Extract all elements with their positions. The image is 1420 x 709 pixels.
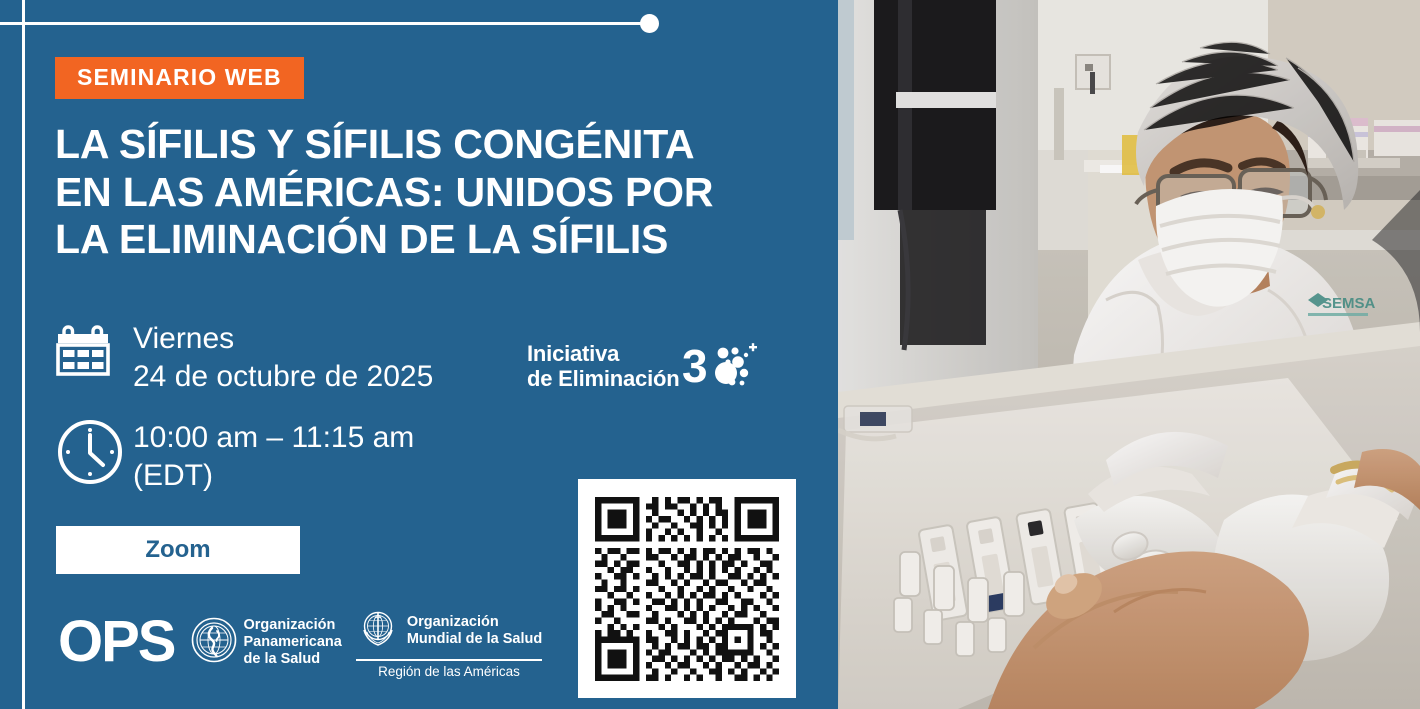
- who-logo-top: Organización Mundial de la Salud: [356, 606, 542, 655]
- who-name: Organización Mundial de la Salud: [407, 614, 542, 648]
- paho-emblem-icon: [191, 617, 237, 668]
- who-name-line-1: Organización: [407, 614, 542, 631]
- who-divider: [356, 659, 542, 661]
- svg-text:3: 3: [682, 340, 708, 392]
- seminar-badge: SEMINARIO WEB: [55, 57, 304, 99]
- event-date-row: Viernes 24 de octubre de 2025: [55, 318, 433, 395]
- who-name-line-2: Mundial de la Salud: [407, 631, 542, 648]
- event-full-date: 24 de octubre de 2025: [133, 358, 433, 396]
- calendar-icon: [55, 318, 133, 382]
- event-time-range: 10:00 am – 11:15 am: [133, 419, 414, 457]
- initiative-logo-line-1: Iniciativa: [527, 341, 679, 366]
- zoom-button[interactable]: Zoom: [56, 526, 300, 574]
- paho-logo: Organización Panamericana de la Salud: [191, 617, 342, 668]
- event-time-row: 10:00 am – 11:15 am (EDT): [55, 417, 414, 494]
- who-logo: Organización Mundial de la Salud Región …: [356, 606, 542, 679]
- page-title: LA SÍFILIS Y SÍFILIS CONGÉNITA EN LAS AM…: [55, 121, 785, 264]
- initiative-logo-text: Iniciativa de Eliminación: [527, 341, 679, 391]
- paho-name-line-2: Panamericana: [244, 634, 342, 651]
- decorative-vertical-line: [22, 0, 25, 709]
- qr-code-image: [595, 497, 779, 681]
- title-line-3: LA ELIMINACIÓN DE LA SÍFILIS: [55, 216, 785, 264]
- ops-wordmark: OPS: [58, 613, 175, 671]
- paho-name-line-1: Organización: [244, 617, 342, 634]
- who-region-label: Región de las Américas: [356, 664, 542, 679]
- event-photo: SEMSA: [838, 0, 1420, 709]
- initiative-logo: Iniciativa de Eliminación 3: [527, 340, 758, 392]
- event-timezone: (EDT): [133, 457, 414, 495]
- title-line-1: LA SÍFILIS Y SÍFILIS CONGÉNITA: [55, 121, 785, 169]
- who-emblem-icon: [356, 606, 400, 655]
- paho-name: Organización Panamericana de la Salud: [244, 617, 342, 667]
- event-date-text: Viernes 24 de octubre de 2025: [133, 318, 433, 395]
- left-info-panel: SEMINARIO WEB LA SÍFILIS Y SÍFILIS CONGÉ…: [0, 0, 838, 709]
- decorative-dot: [640, 14, 659, 33]
- title-line-2: EN LAS AMÉRICAS: UNIDOS POR: [55, 169, 785, 217]
- footer-logos: OPS Organización: [58, 606, 542, 679]
- event-time-text: 10:00 am – 11:15 am (EDT): [133, 417, 414, 494]
- initiative-logo-line-2: de Eliminación: [527, 366, 679, 391]
- paho-name-line-3: de la Salud: [244, 651, 342, 668]
- qr-code[interactable]: [578, 479, 796, 698]
- webinar-banner: SEMINARIO WEB LA SÍFILIS Y SÍFILIS CONGÉ…: [0, 0, 1420, 709]
- decorative-horizontal-line: [0, 22, 652, 25]
- clock-icon: [55, 417, 133, 487]
- event-weekday: Viernes: [133, 320, 433, 358]
- initiative-30-plus-mark: 3: [682, 340, 758, 392]
